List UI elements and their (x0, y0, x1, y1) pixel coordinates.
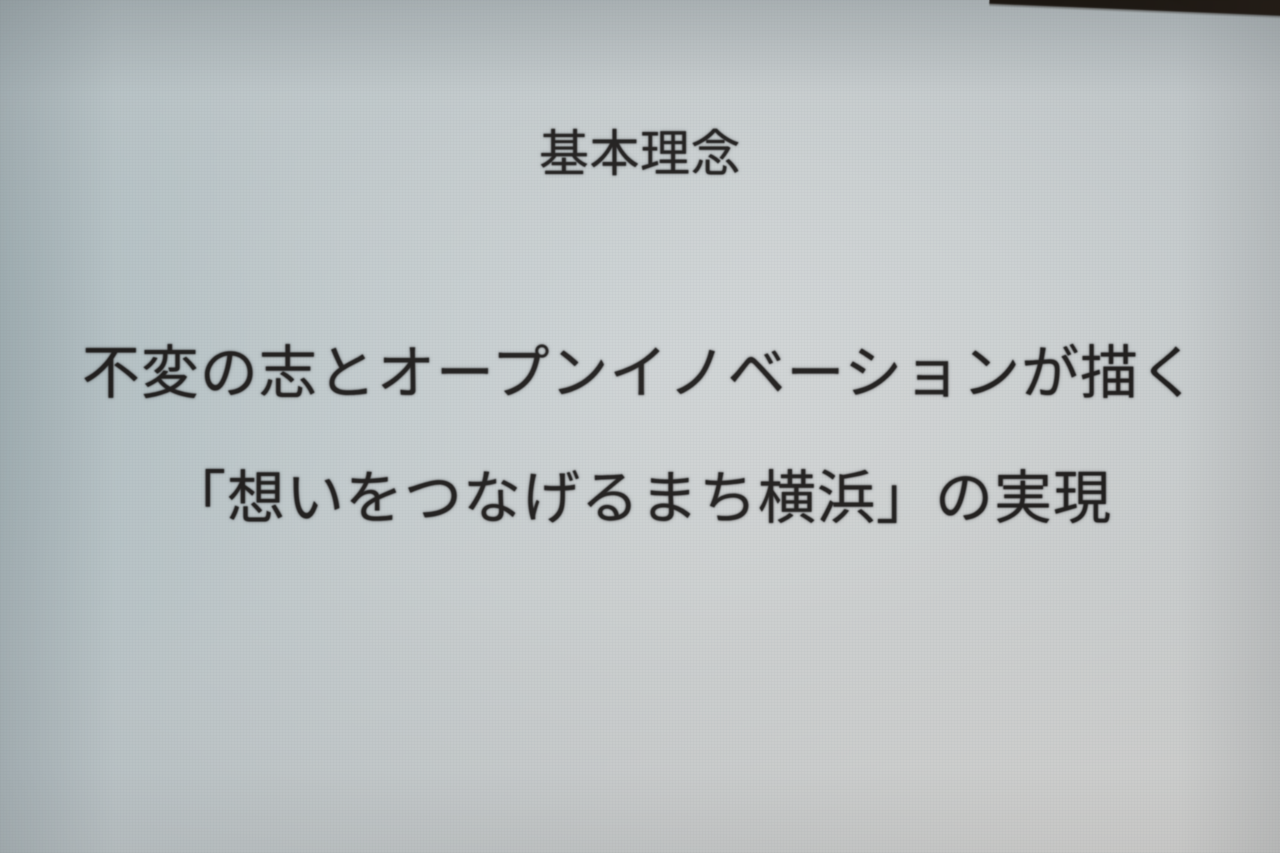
projected-slide-photo: 基本理念 不変の志とオープンイノベーションが描く 「想いをつなげるまち横浜」の実… (0, 0, 1280, 853)
slide-body-text: 不変の志とオープンイノベーションが描く 「想いをつなげるまち横浜」の実現 (0, 345, 1280, 528)
slide-body-line-2: 「想いをつなげるまち横浜」の実現 (0, 470, 1280, 528)
slide-body-line-1: 不変の志とオープンイノベーションが描く (0, 345, 1280, 403)
slide-title: 基本理念 (0, 128, 1280, 181)
